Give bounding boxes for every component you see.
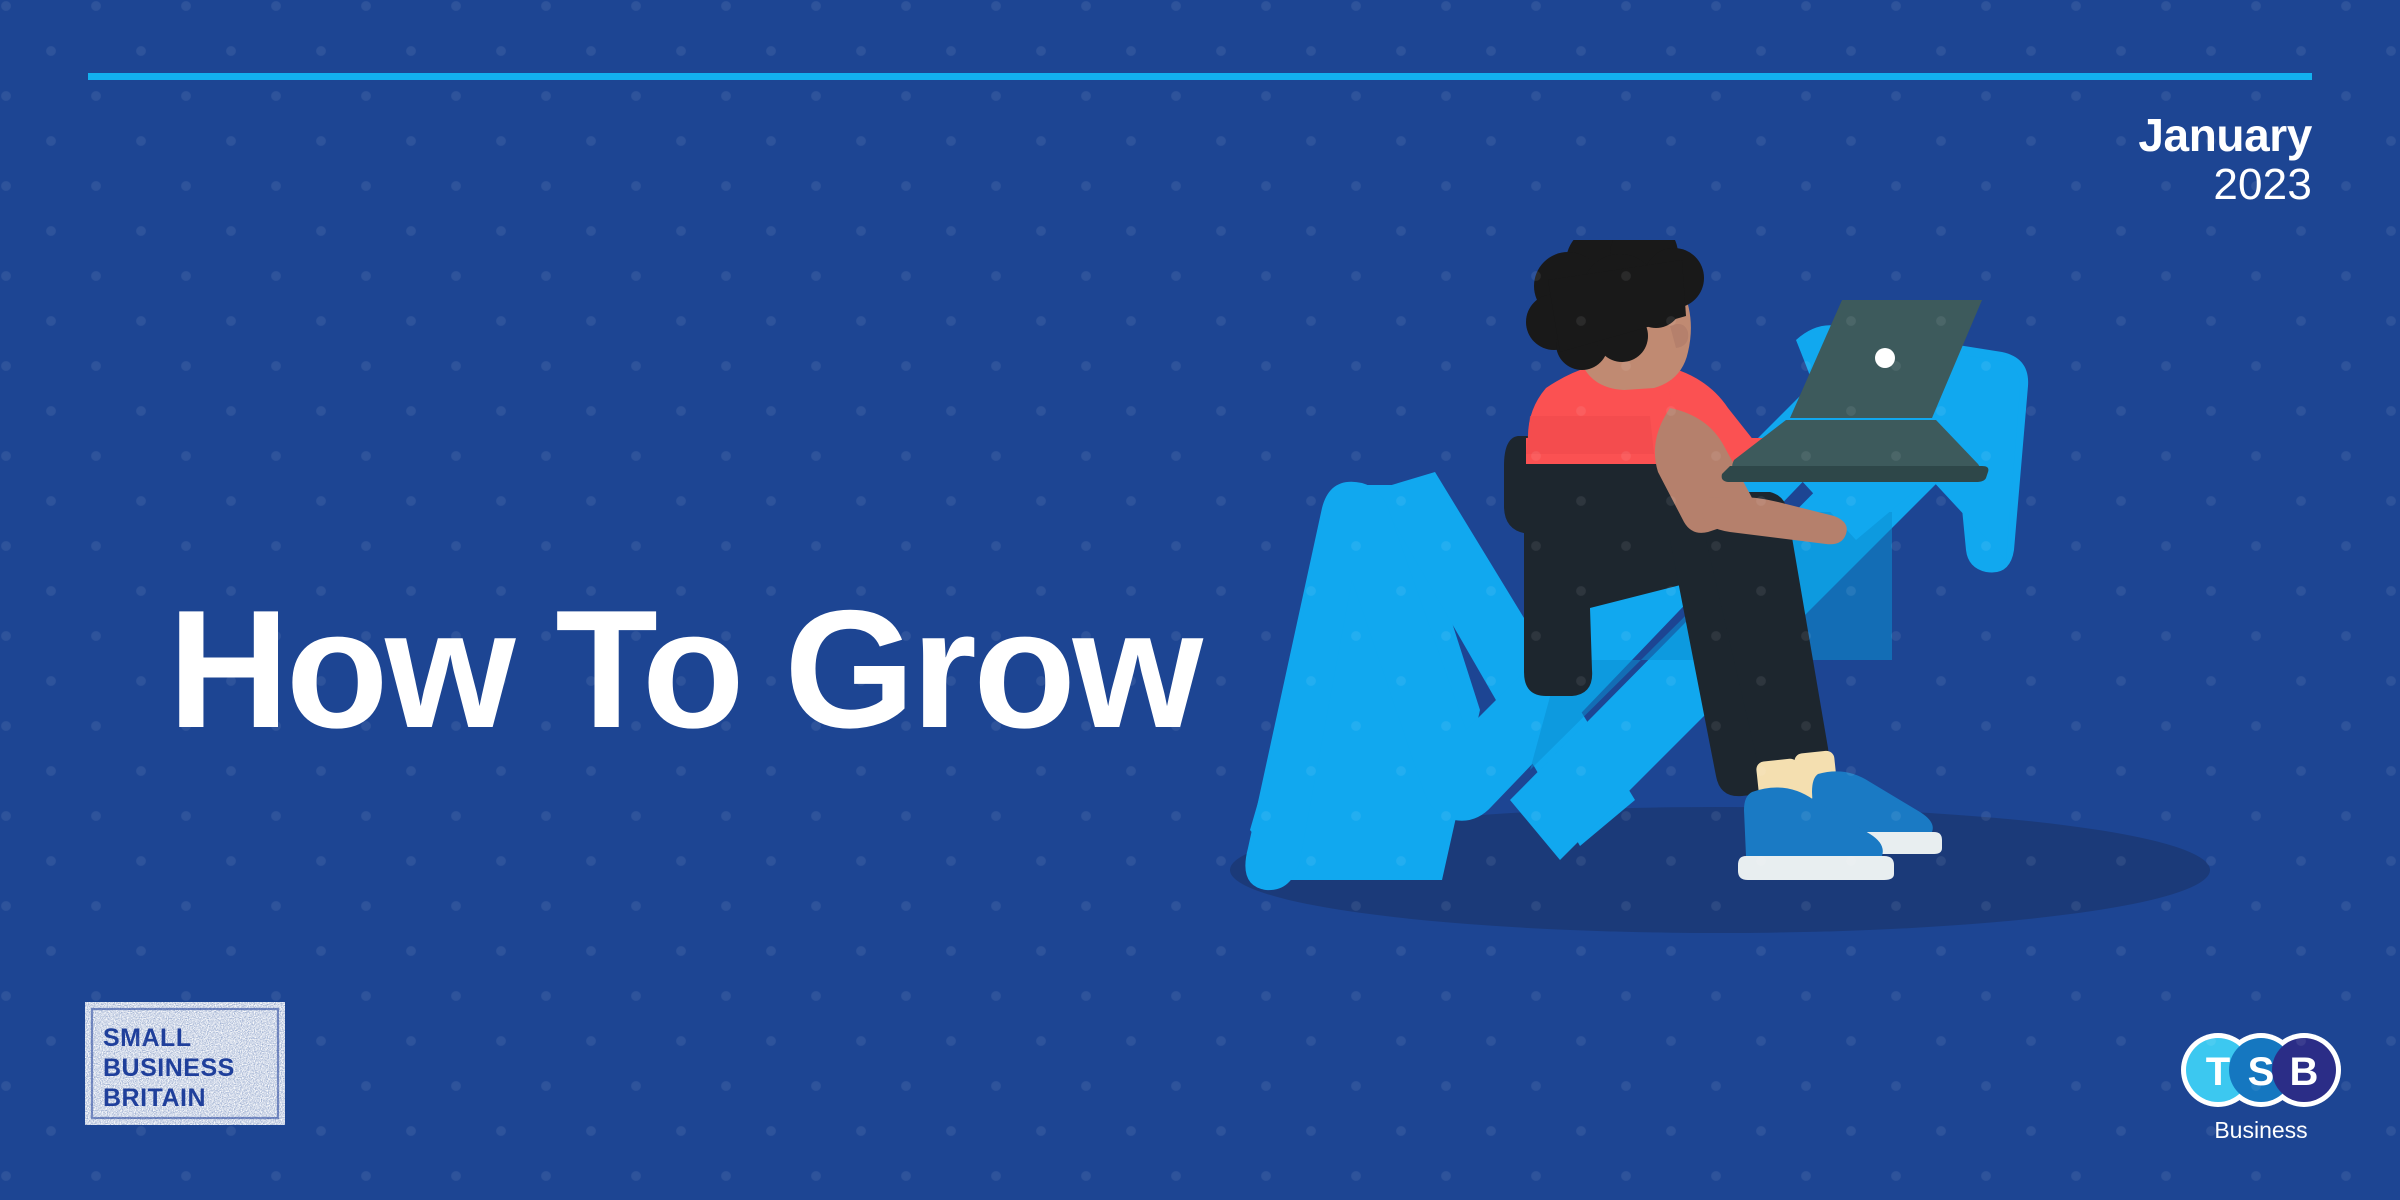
tsb-letter-b: B [2290,1050,2319,1094]
laptop-logo-dot [1875,348,1895,368]
tsb-caption: Business [2214,1117,2307,1143]
date-block: January 2023 [2138,112,2312,208]
tsb-letter-t: T [2206,1050,2230,1094]
sbb-line-2: BUSINESS [103,1054,235,1082]
date-year: 2023 [2138,162,2312,208]
sbb-line-3: BRITAIN [103,1084,206,1112]
small-business-britain-logo[interactable]: SMALL BUSINESS BRITAIN [85,1002,285,1125]
person-head [1526,240,1704,390]
banner-root: January 2023 How To Grow SMALL BUSINESS [0,0,2400,1200]
page-title: How To Grow [168,585,1200,753]
top-accent-rule [88,73,2312,80]
hero-illustration [1230,240,2290,940]
sbb-line-1: SMALL [103,1024,192,1052]
tsb-letter-s: S [2248,1050,2275,1094]
tsb-business-logo[interactable]: T S B Business [2176,1030,2346,1148]
date-month: January [2138,112,2312,160]
